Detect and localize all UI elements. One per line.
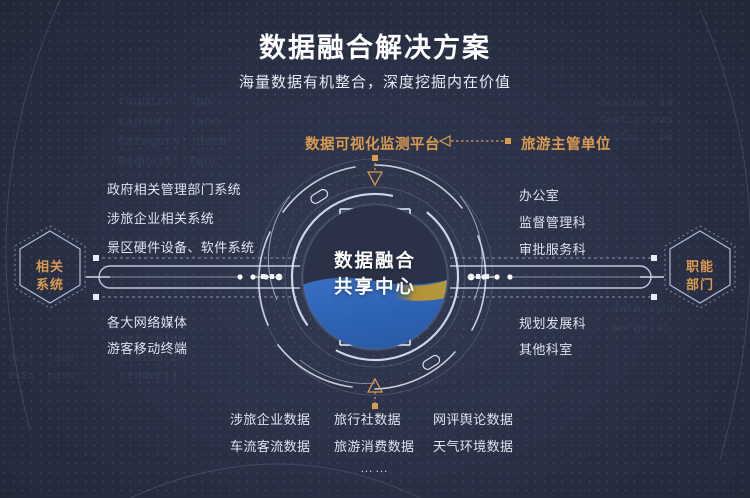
page-subtitle: 海量数据有机整合，深度挖掘内在价值 <box>0 71 750 92</box>
left-item-1: 政府相关管理部门系统 <box>107 179 241 198</box>
hexagon-left-line2: 系统 <box>13 276 87 294</box>
core-line1: 数据融合 <box>295 248 455 274</box>
page-title: 数据融合解决方案 <box>0 26 750 65</box>
left-item-5: 游客移动终端 <box>107 338 187 357</box>
bottom-item-r2c2: 旅游消费数据 <box>334 436 414 455</box>
label-tourism-authority[interactable]: 旅游主管单位 <box>521 133 611 154</box>
bottom-item-r1c1: 涉旅企业数据 <box>230 409 310 428</box>
hexagon-right-line2: 部门 <box>663 276 737 294</box>
right-item-1: 办公室 <box>519 185 559 204</box>
left-item-2: 涉旅企业相关系统 <box>107 208 214 227</box>
left-item-4: 各大网络媒体 <box>107 312 187 331</box>
hexagon-left-line1: 相关 <box>13 258 87 276</box>
core-sphere-label: 数据融合 共享中心 <box>295 248 455 300</box>
bottom-item-r2c3: 天气环境数据 <box>433 436 513 455</box>
hexagon-right-label: 职能 部门 <box>663 258 737 294</box>
right-item-4: 规划发展科 <box>519 313 586 332</box>
left-lower-dotted-line <box>93 294 300 300</box>
bottom-item-r1c2: 旅行社数据 <box>334 409 401 428</box>
bottom-ellipsis: …… <box>0 460 750 475</box>
bottom-item-r1c3: 网评舆论数据 <box>433 409 513 428</box>
core-line2: 共享中心 <box>295 274 455 300</box>
right-item-2: 监督管理科 <box>519 212 586 231</box>
hexagon-right-line1: 职能 <box>663 258 737 276</box>
right-item-5: 其他科室 <box>519 339 573 358</box>
right-lower-dotted-line <box>450 294 657 300</box>
left-item-3: 景区硬件设备、软件系统 <box>107 237 254 256</box>
infographic-canvas: require "pa capture json Category: deta … <box>0 0 750 498</box>
bottom-item-r2c1: 车流客流数据 <box>230 436 310 455</box>
label-visualization-platform[interactable]: 数据可视化监测平台 <box>305 133 440 154</box>
right-item-3: 审批服务科 <box>519 239 586 258</box>
top-labels-arrow <box>440 136 511 146</box>
hexagon-left-label: 相关 系统 <box>13 258 87 294</box>
